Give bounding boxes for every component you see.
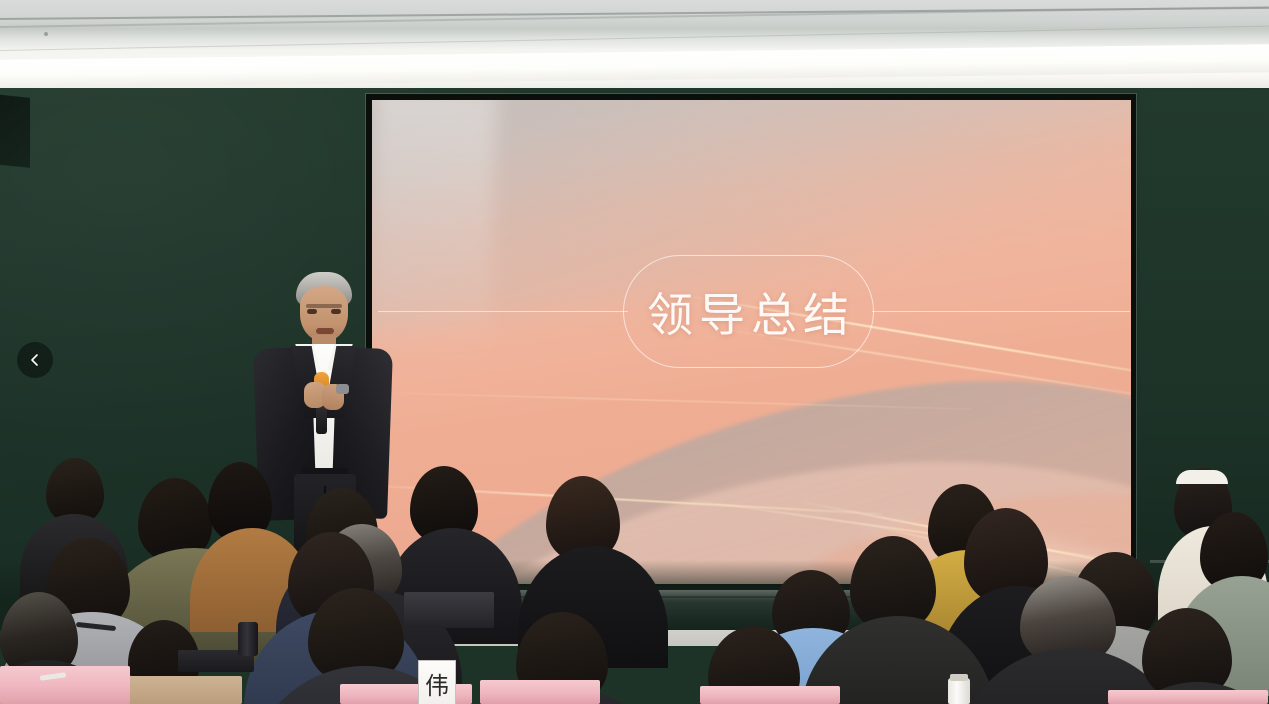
desk-front-center-2 (480, 680, 600, 704)
name-card: 伟 (418, 660, 456, 704)
chevron-left-icon (28, 353, 42, 367)
wall-speaker-box (0, 94, 30, 168)
ceiling-light-strip (0, 44, 1269, 88)
presenter-brow (306, 304, 342, 308)
tumbler (238, 622, 258, 656)
presenter-eyes (307, 309, 341, 314)
desk-front-far-right (1108, 690, 1268, 704)
slide-light-beam (372, 100, 497, 362)
desk-front-left (0, 666, 130, 704)
ceiling (0, 0, 1269, 96)
previous-button[interactable] (17, 342, 53, 378)
ceiling-screw (44, 32, 48, 36)
slide-connector-line-left (378, 311, 628, 312)
slide-title: 领导总结 (642, 279, 855, 345)
water-bottle-cap (950, 674, 968, 681)
headband (1176, 470, 1228, 484)
photo-viewer: 领导总结 (0, 0, 1269, 704)
presenter-wristwatch (336, 384, 349, 394)
water-bottle (948, 678, 970, 704)
name-card-text: 伟 (425, 666, 449, 701)
slide-connector-line-right (872, 311, 1130, 312)
presenter-mouth (316, 328, 334, 334)
laptop-screen (404, 592, 494, 628)
desk-front-right (700, 686, 840, 704)
slide-title-pill: 领导总结 (623, 255, 874, 368)
